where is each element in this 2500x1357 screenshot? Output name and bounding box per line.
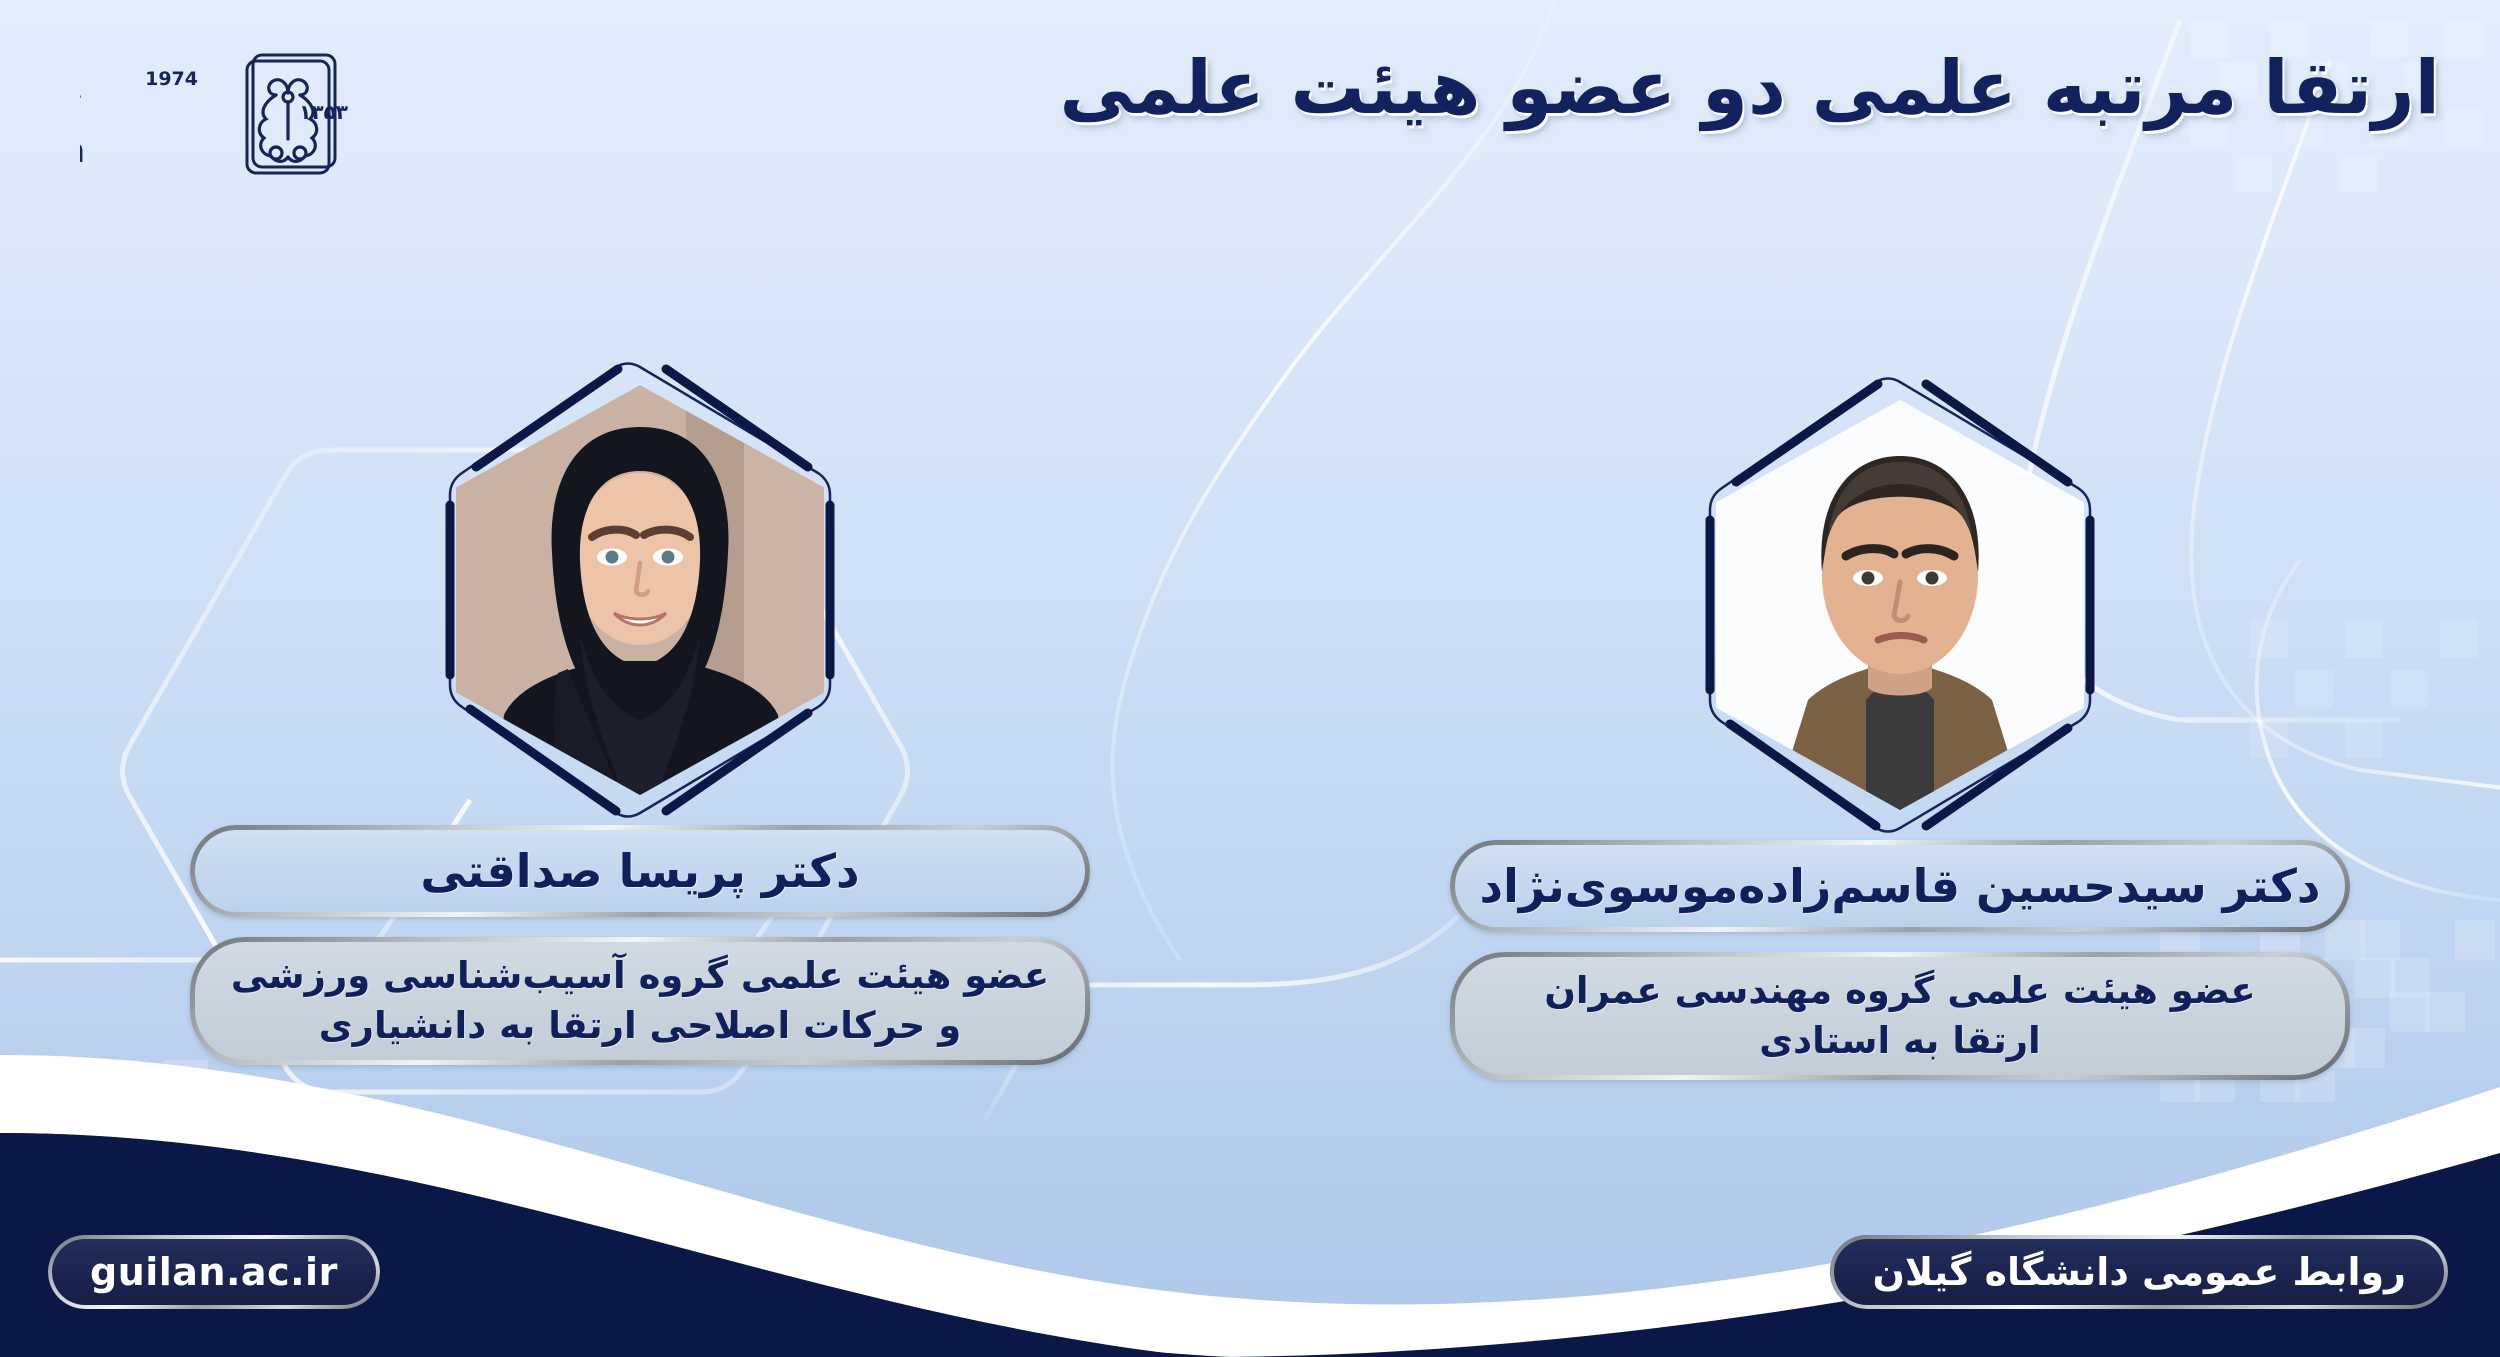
hexagon-outline-right <box>1690 370 2110 840</box>
logo-year-fa: ۱۳۵۳ <box>299 100 348 124</box>
logo-university-of-text: University of <box>80 91 81 127</box>
public-relations-badge: روابط عمومی دانشگاه گیلان <box>1830 1235 2448 1309</box>
role-badge-left: عضو هیئت علمی گروه آسیب‌شناسی ورزشی و حر… <box>190 937 1090 1065</box>
website-badge[interactable]: guilan.ac.ir <box>48 1235 380 1309</box>
name-badge-left: دکتر پریسا صداقتی <box>190 825 1090 917</box>
university-of-guilan-logo: 1974 University of Guilan <box>80 35 550 180</box>
logo-persian-name: دانشگاه گیلان <box>548 104 550 153</box>
person-role-left: عضو هیئت علمی گروه آسیب‌شناسی ورزشی و حر… <box>231 951 1049 1051</box>
headline-text: ارتقا مرتبه علمی دو عضو هیئت علمی <box>1060 43 2440 133</box>
hex-photo-frame-left <box>430 355 850 825</box>
role-badge-right: عضو هیئت علمی گروه مهندسی عمران ارتقا به… <box>1450 952 2350 1080</box>
logo-year-en: 1974 <box>145 68 198 90</box>
logo-guilan-text: Guilan <box>80 131 92 170</box>
public-relations-text: روابط عمومی دانشگاه گیلان <box>1872 1250 2406 1294</box>
hexagon-outline-left <box>430 355 850 825</box>
person-card-right: دکتر سیدحسین قاسم‌زاده‌موسوی‌نژاد عضو هی… <box>1450 370 2350 1080</box>
hex-photo-frame-right <box>1690 370 2110 840</box>
person-name-right: دکتر سیدحسین قاسم‌زاده‌موسوی‌نژاد <box>1479 863 2320 909</box>
poster-canvas: 1974 University of Guilan <box>0 0 2500 1357</box>
person-name-left: دکتر پریسا صداقتی <box>420 848 859 894</box>
website-url: guilan.ac.ir <box>90 1250 338 1294</box>
name-badge-right: دکتر سیدحسین قاسم‌زاده‌موسوی‌نژاد <box>1450 840 2350 932</box>
person-role-right: عضو هیئت علمی گروه مهندسی عمران ارتقا به… <box>1544 966 2255 1066</box>
page-title: ارتقا مرتبه علمی دو عضو هیئت علمی <box>980 18 2440 158</box>
person-card-left: دکتر پریسا صداقتی عضو هیئت علمی گروه آسی… <box>190 355 1090 1065</box>
